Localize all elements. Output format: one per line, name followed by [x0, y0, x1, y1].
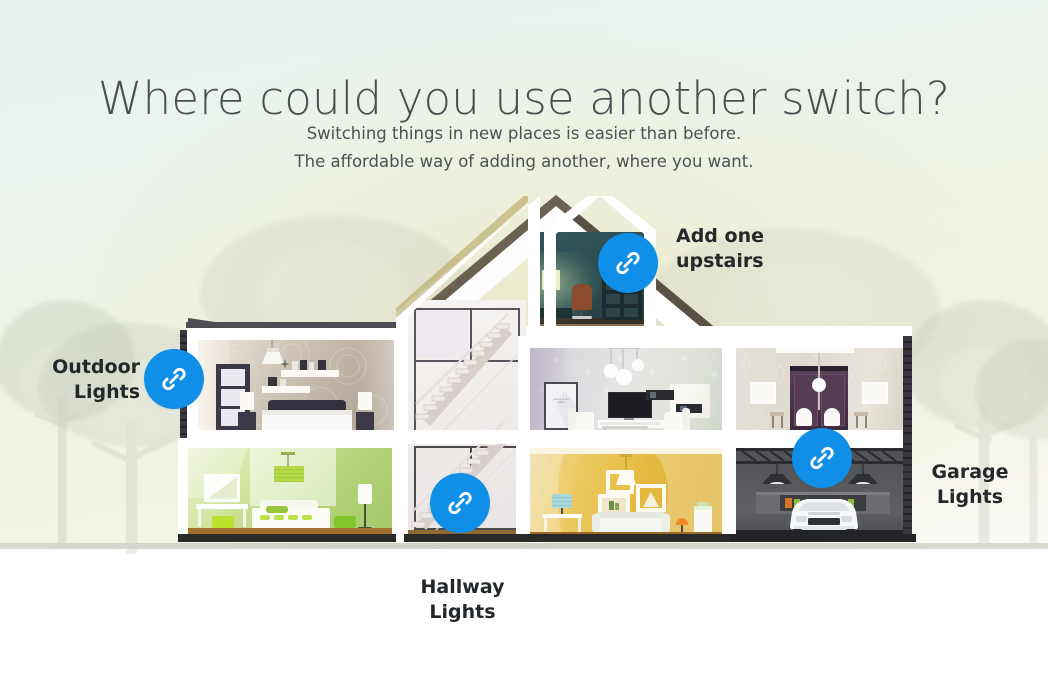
living-left-wall — [518, 336, 530, 444]
lounge-pedestal — [694, 508, 712, 533]
dining-pendant-globe — [812, 378, 826, 392]
dining-frame-left — [750, 382, 776, 404]
green-bedroom-ceiling — [186, 438, 408, 448]
living-pendant-3 — [632, 359, 644, 371]
stairwell-floor-slab — [396, 430, 528, 444]
room-master-bedroom — [196, 338, 396, 438]
link-icon — [612, 247, 644, 279]
green-floor-lamp — [358, 484, 372, 504]
lounge-sofa — [596, 516, 666, 532]
callout-label-hallway-lights: Hallway Lights — [380, 575, 545, 625]
lounge-table-lamp — [552, 494, 572, 508]
dining-ceiling — [730, 336, 912, 348]
house-base-center — [404, 534, 730, 542]
lounge-ceiling — [518, 438, 732, 448]
ground-line — [0, 543, 1048, 549]
link-badge-garage[interactable] — [792, 428, 852, 488]
room-lounge — [528, 446, 724, 538]
lounge-side-table — [542, 514, 582, 518]
green-ottoman-right — [334, 516, 356, 528]
lounge-right-wall — [722, 438, 736, 538]
living-coffee-table — [602, 426, 648, 429]
house-right-edge — [903, 336, 912, 442]
green-pendant-lamp — [274, 466, 304, 482]
link-badge-hallway[interactable] — [430, 473, 490, 533]
lounge-frame-1 — [606, 470, 634, 494]
callout-label-garage-lights: Garage Lights — [905, 460, 1035, 510]
garage-base — [726, 534, 916, 542]
garage-hanging-light-1 — [762, 473, 792, 484]
left-wing-base — [178, 534, 408, 542]
dining-frame-right — [862, 382, 888, 404]
garage-hanging-light-2 — [848, 473, 878, 484]
subtitle-line-1: Switching things in new places is easier… — [0, 124, 1048, 143]
bedroom-shelf-upper — [281, 370, 339, 377]
room-dining — [736, 346, 906, 438]
lounge-left-wall — [516, 438, 530, 538]
bedroom-nightstand-right — [356, 412, 374, 432]
living-ceiling — [520, 336, 732, 348]
living-pendant-2 — [616, 369, 632, 385]
link-badge-upstairs[interactable] — [598, 233, 658, 293]
dining-chair-1 — [796, 408, 812, 426]
link-icon — [806, 442, 838, 474]
page-title: Where could you use another switch? — [0, 72, 1048, 125]
lounge-orange-lamp — [676, 518, 688, 525]
dining-chair-2 — [824, 408, 840, 426]
callout-label-add-one-upstairs: Add one upstairs — [676, 224, 836, 274]
living-right-wall — [722, 336, 736, 444]
bedroom-nightstand-left — [238, 412, 256, 432]
link-icon — [444, 487, 476, 519]
subtitle-line-2: The affordable way of adding another, wh… — [0, 152, 1048, 171]
green-bedroom-left-wall — [178, 438, 188, 538]
green-ottoman-left — [212, 516, 234, 528]
link-icon — [158, 363, 190, 395]
bedroom-ceiling — [186, 328, 406, 340]
page-root: nature is our alpha — [0, 0, 1048, 700]
bedroom-shelf-lower — [262, 386, 310, 393]
room-living: nature is our alpha — [528, 346, 724, 438]
room-green-bedroom — [186, 446, 396, 538]
link-badge-outdoor[interactable] — [144, 349, 204, 409]
callout-label-outdoor-lights: Outdoor Lights — [20, 355, 140, 405]
vanity-desk — [196, 504, 248, 509]
